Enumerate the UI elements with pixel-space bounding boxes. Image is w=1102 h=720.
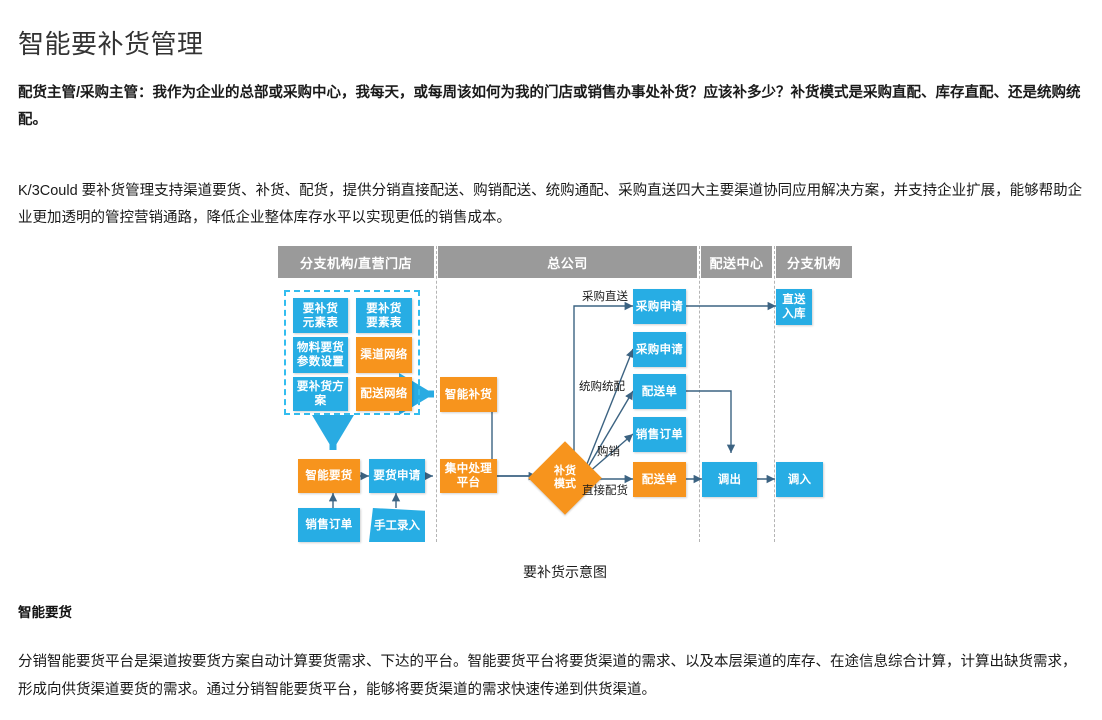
- node-yaobuhuo-fangan[interactable]: 要补货方案: [293, 377, 348, 411]
- node-diaochu[interactable]: 调出: [702, 462, 757, 497]
- node-xiaoshou-dingdan-right[interactable]: 销售订单: [633, 417, 686, 452]
- node-peisong-wangluo[interactable]: 配送网络: [356, 377, 412, 411]
- page-title: 智能要补货管理: [18, 24, 204, 61]
- node-yaohuo-shenqing[interactable]: 要货申请: [369, 459, 425, 493]
- intro-paragraph: 配货主管/采购主管：我作为企业的总部或采购中心，我每天，或每周该如何为我的门店或…: [18, 80, 1090, 134]
- page-root: 智能要补货管理 配货主管/采购主管：我作为企业的总部或采购中心，我每天，或每周该…: [0, 0, 1102, 720]
- replenishment-flow-diagram: 分支机构/直营门店 总公司 配送中心 分支机构: [276, 246, 854, 546]
- node-yaobuhuo-yuansubiao[interactable]: 要补货元素表: [293, 298, 348, 333]
- node-wuliao-canshu-shezhi[interactable]: 物料要货参数设置: [293, 337, 348, 373]
- node-zhineng-yaohuo[interactable]: 智能要货: [298, 459, 360, 493]
- edge-label-gouxiao: 购销: [597, 443, 620, 459]
- node-shougong-luru[interactable]: 手工录入: [369, 508, 425, 542]
- node-peisong-dan-orange[interactable]: 配送单: [633, 462, 686, 497]
- node-zhineng-buhuo[interactable]: 智能补货: [440, 377, 497, 412]
- node-caigou-shenqing-1[interactable]: 采购申请: [633, 289, 686, 324]
- node-yaobuhuo-yaosubiao[interactable]: 要补货要素表: [356, 298, 412, 333]
- node-caigou-shenqing-2[interactable]: 采购申请: [633, 332, 686, 367]
- node-xiaoshou-dingdan-left[interactable]: 销售订单: [298, 508, 360, 542]
- node-peisong-dan-blue[interactable]: 配送单: [633, 374, 686, 409]
- edge-label-tonggou-tongpei: 统购统配: [579, 378, 625, 394]
- diagram-caption: 要补货示意图: [276, 562, 854, 582]
- tail-paragraph: 分销智能要货平台是渠道按要货方案自动计算要货需求、下达的平台。智能要货平台将要货…: [18, 648, 1090, 704]
- node-qudao-wangluo[interactable]: 渠道网络: [356, 337, 412, 373]
- node-zhisong-ruku[interactable]: 直送入库: [776, 289, 812, 325]
- edge-label-zhijie-peihuo: 直接配货: [582, 482, 628, 498]
- edge-label-caigou-zhisong: 采购直送: [582, 288, 628, 304]
- sub-heading-zhineng-yaohuo: 智能要货: [18, 601, 72, 621]
- body-paragraph: K/3Could 要补货管理支持渠道要货、补货、配货，提供分销直接配送、购销配送…: [18, 178, 1090, 232]
- node-jizhong-chuli-pingtai[interactable]: 集中处理平台: [440, 459, 497, 493]
- node-diaoru[interactable]: 调入: [776, 462, 823, 497]
